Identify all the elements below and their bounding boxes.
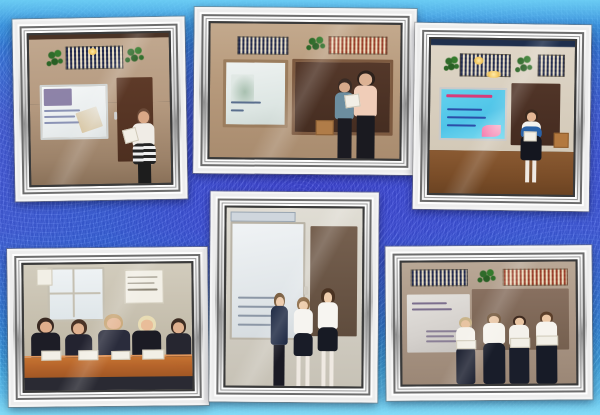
person-student-2 (482, 313, 507, 384)
person-student-right (316, 288, 338, 386)
photo-frame-top-center[interactable] (193, 7, 416, 175)
photo-image-top-left (29, 33, 172, 185)
photo-frame-bottom-left[interactable] (7, 247, 209, 407)
photo-mat (427, 37, 577, 197)
collage-canvas (0, 0, 600, 415)
person-student-center (292, 297, 314, 386)
photo-image-bottom-left (23, 263, 192, 391)
photo-frame-bottom-center[interactable] (209, 191, 378, 402)
person-student-left (269, 293, 290, 386)
person-presenter (518, 110, 544, 187)
photo-image-top-right (429, 39, 575, 195)
photo-mat (207, 21, 402, 161)
photo-mat (21, 261, 194, 393)
photo-image-top-center (209, 23, 400, 159)
person-student-1 (454, 317, 477, 384)
photo-mat (400, 259, 579, 386)
photo-mat (223, 206, 364, 389)
photo-image-bottom-center (225, 208, 362, 387)
photo-mat (27, 31, 174, 187)
photo-frame-bottom-right[interactable] (385, 245, 592, 400)
wall-poster (124, 270, 163, 304)
photo-image-bottom-right (402, 261, 577, 384)
person-student-3 (508, 315, 531, 383)
person-student-4 (534, 312, 559, 384)
photo-frame-top-right[interactable] (413, 23, 592, 211)
slide-header-bar (231, 211, 296, 222)
photo-frame-top-left[interactable] (12, 17, 187, 202)
person-presenter (128, 108, 160, 184)
person-student-right (352, 70, 379, 159)
